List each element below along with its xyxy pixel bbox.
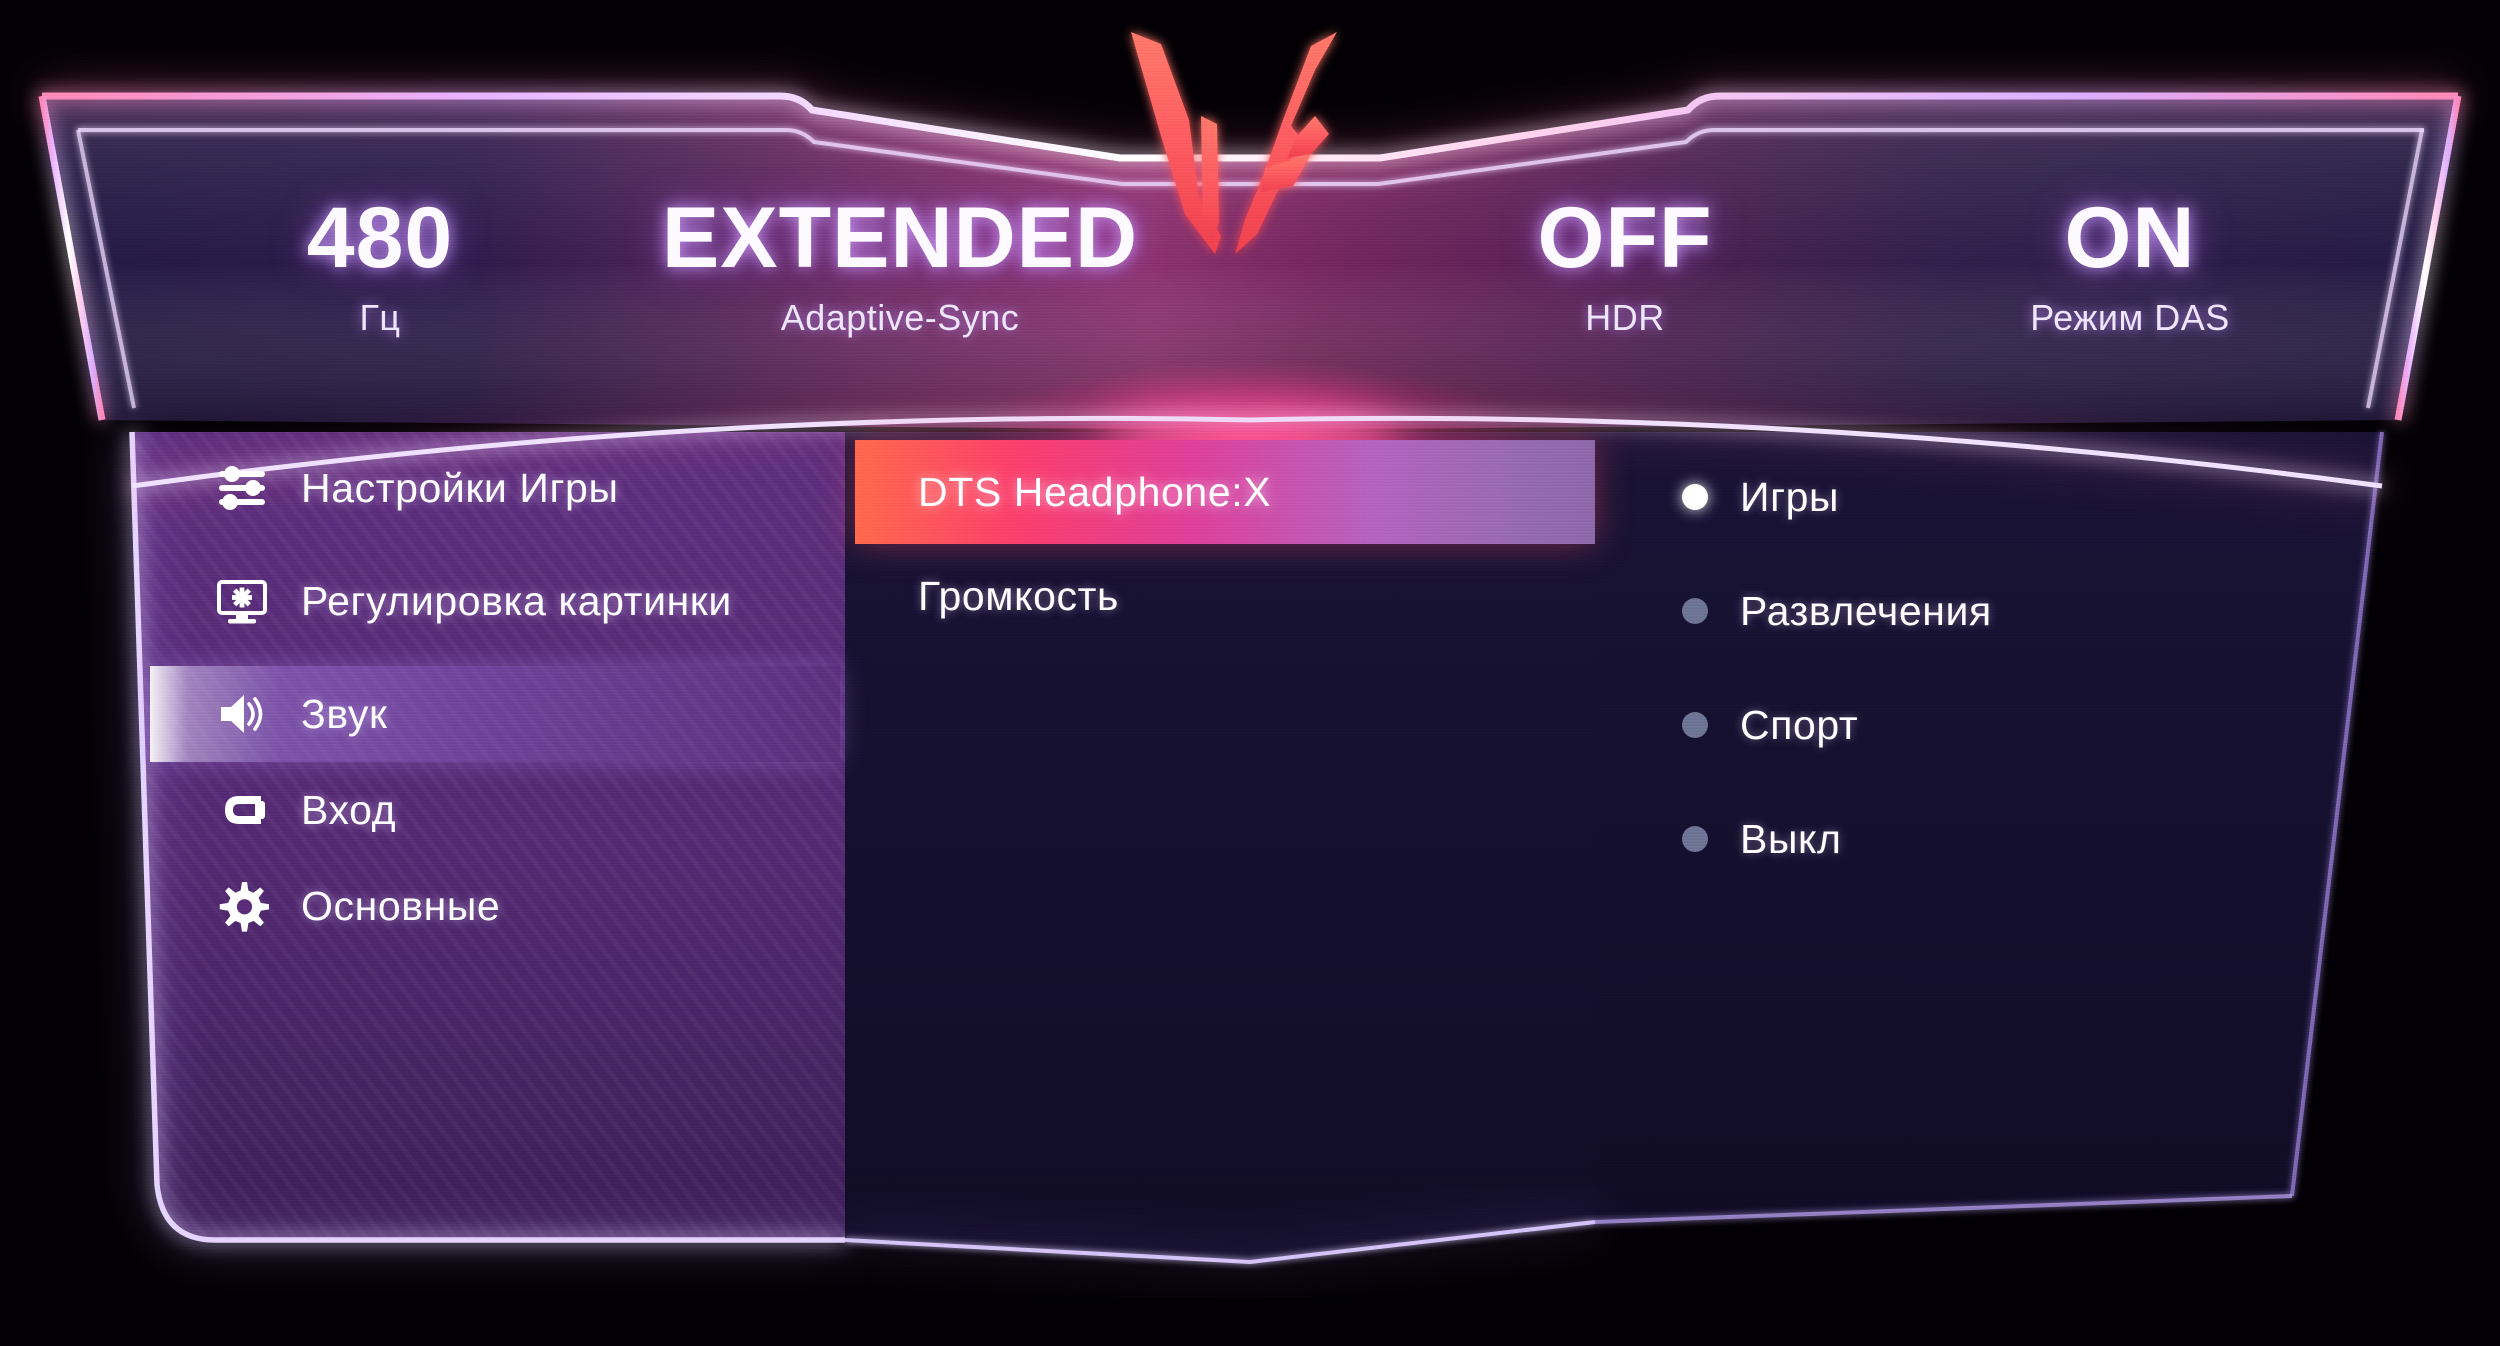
option-sport[interactable]: Спорт <box>1640 668 2340 782</box>
stat-hdr: OFF HDR <box>1450 195 1800 339</box>
sidebar-item-label: Звук <box>301 690 387 738</box>
content-bottom-border <box>845 1196 2292 1262</box>
radio-icon <box>1682 712 1708 738</box>
sidebar-item-label: Вход <box>301 786 396 834</box>
sidebar-item-general[interactable]: Основные <box>150 858 840 954</box>
stat-refresh-label: Гц <box>215 297 545 339</box>
option-games[interactable]: Игры <box>1640 440 2340 554</box>
submenu-item-label: DTS Headphone:X <box>918 469 1271 516</box>
stat-das-value: ON <box>1880 195 2380 281</box>
option-entertainment[interactable]: Развлечения <box>1640 554 2340 668</box>
stat-sync-value: EXTENDED <box>600 195 1200 281</box>
radio-selected-icon <box>1682 484 1708 510</box>
radio-icon <box>1682 826 1708 852</box>
submenu-item-volume[interactable]: Громкость <box>855 544 1595 648</box>
submenu-list: DTS Headphone:X Громкость <box>855 440 1595 1140</box>
input-plug-icon <box>215 783 269 837</box>
sidebar-item-label: Основные <box>301 882 500 930</box>
stat-refresh-value: 480 <box>215 195 545 281</box>
stat-sync-label: Adaptive-Sync <box>600 297 1200 339</box>
sidebar-item-sound[interactable]: Звук <box>150 666 840 762</box>
option-label: Игры <box>1740 474 1839 521</box>
option-list: Игры Развлечения Спорт Выкл <box>1640 440 2340 1140</box>
sidebar-item-label: Настройки Игры <box>301 464 619 512</box>
stat-adaptive-sync: EXTENDED Adaptive-Sync <box>600 195 1200 339</box>
sliders-icon <box>215 461 269 515</box>
sidebar-item-input[interactable]: Вход <box>150 762 840 858</box>
speaker-icon <box>215 687 269 741</box>
option-off[interactable]: Выкл <box>1640 782 2340 896</box>
lg-ultragear-logo <box>1115 8 1355 258</box>
option-label: Выкл <box>1740 816 1842 863</box>
gear-icon <box>215 879 269 933</box>
sidebar-item-label: Регулировка картинки <box>301 577 732 625</box>
sidebar-item-picture-adjust[interactable]: Регулировка картинки <box>150 536 840 666</box>
option-label: Спорт <box>1740 702 1858 749</box>
osd-screen: 480 Гц EXTENDED Adaptive-Sync OFF HDR ON… <box>0 0 2500 1346</box>
stat-hdr-value: OFF <box>1450 195 1800 281</box>
radio-icon <box>1682 598 1708 624</box>
stat-das-mode: ON Режим DAS <box>1880 195 2380 339</box>
stat-hdr-label: HDR <box>1450 297 1800 339</box>
submenu-item-label: Громкость <box>918 573 1119 620</box>
option-label: Развлечения <box>1740 588 1992 635</box>
sidebar-menu: Настройки Игры <box>150 440 840 1140</box>
sidebar-item-game-settings[interactable]: Настройки Игры <box>150 440 840 536</box>
stat-das-label: Режим DAS <box>1880 297 2380 339</box>
stat-refresh-rate: 480 Гц <box>215 195 545 339</box>
submenu-item-dts-headphone-x[interactable]: DTS Headphone:X <box>855 440 1595 544</box>
monitor-gear-icon <box>215 574 269 628</box>
